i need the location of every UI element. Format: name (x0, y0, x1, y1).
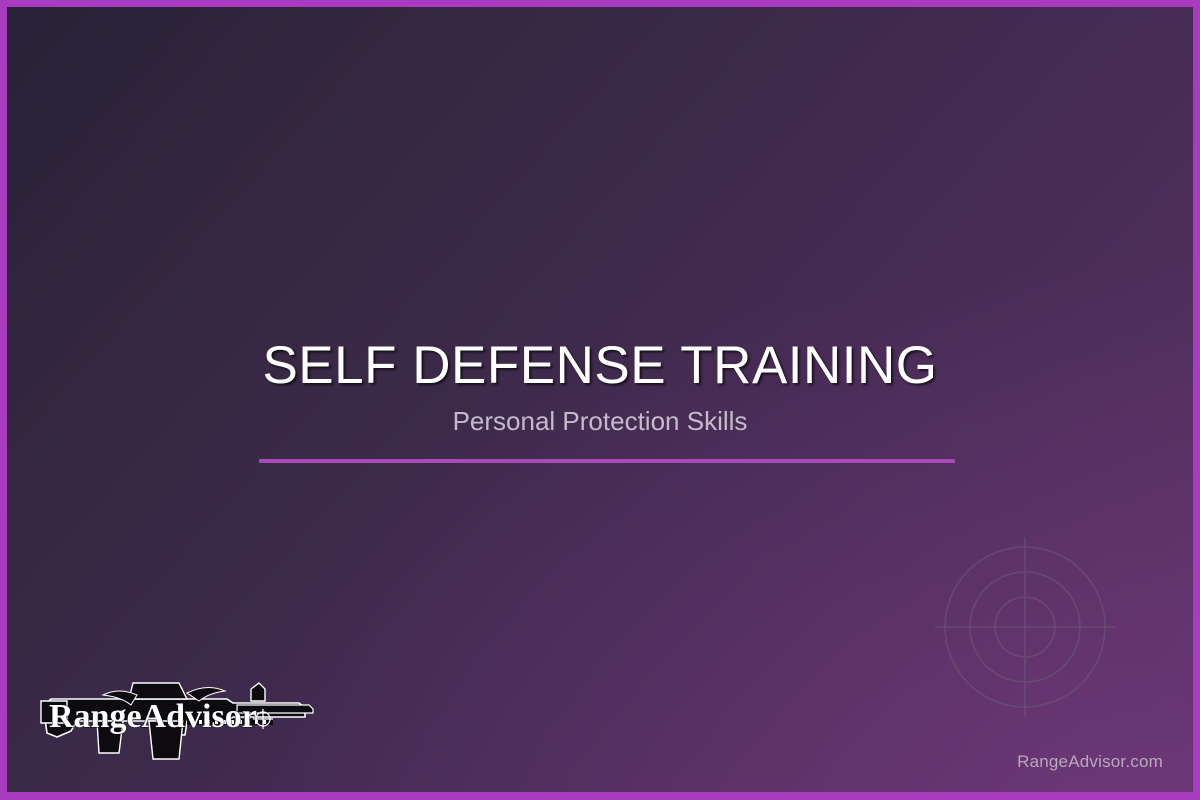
brand-wordmark: RangeAdvisor (49, 698, 257, 735)
title-block: SELF DEFENSE TRAINING Personal Protectio… (7, 337, 1193, 436)
page-title: SELF DEFENSE TRAINING (7, 337, 1193, 394)
brand-logo: RangeAdvisor (37, 675, 317, 771)
crosshair-target-icon (935, 537, 1115, 717)
footer-url: RangeAdvisor.com (1017, 752, 1163, 772)
page-subtitle: Personal Protection Skills (7, 407, 1193, 436)
title-divider (259, 459, 955, 463)
slide-canvas: SELF DEFENSE TRAINING Personal Protectio… (7, 7, 1193, 792)
presentation-slide: SELF DEFENSE TRAINING Personal Protectio… (0, 0, 1200, 800)
